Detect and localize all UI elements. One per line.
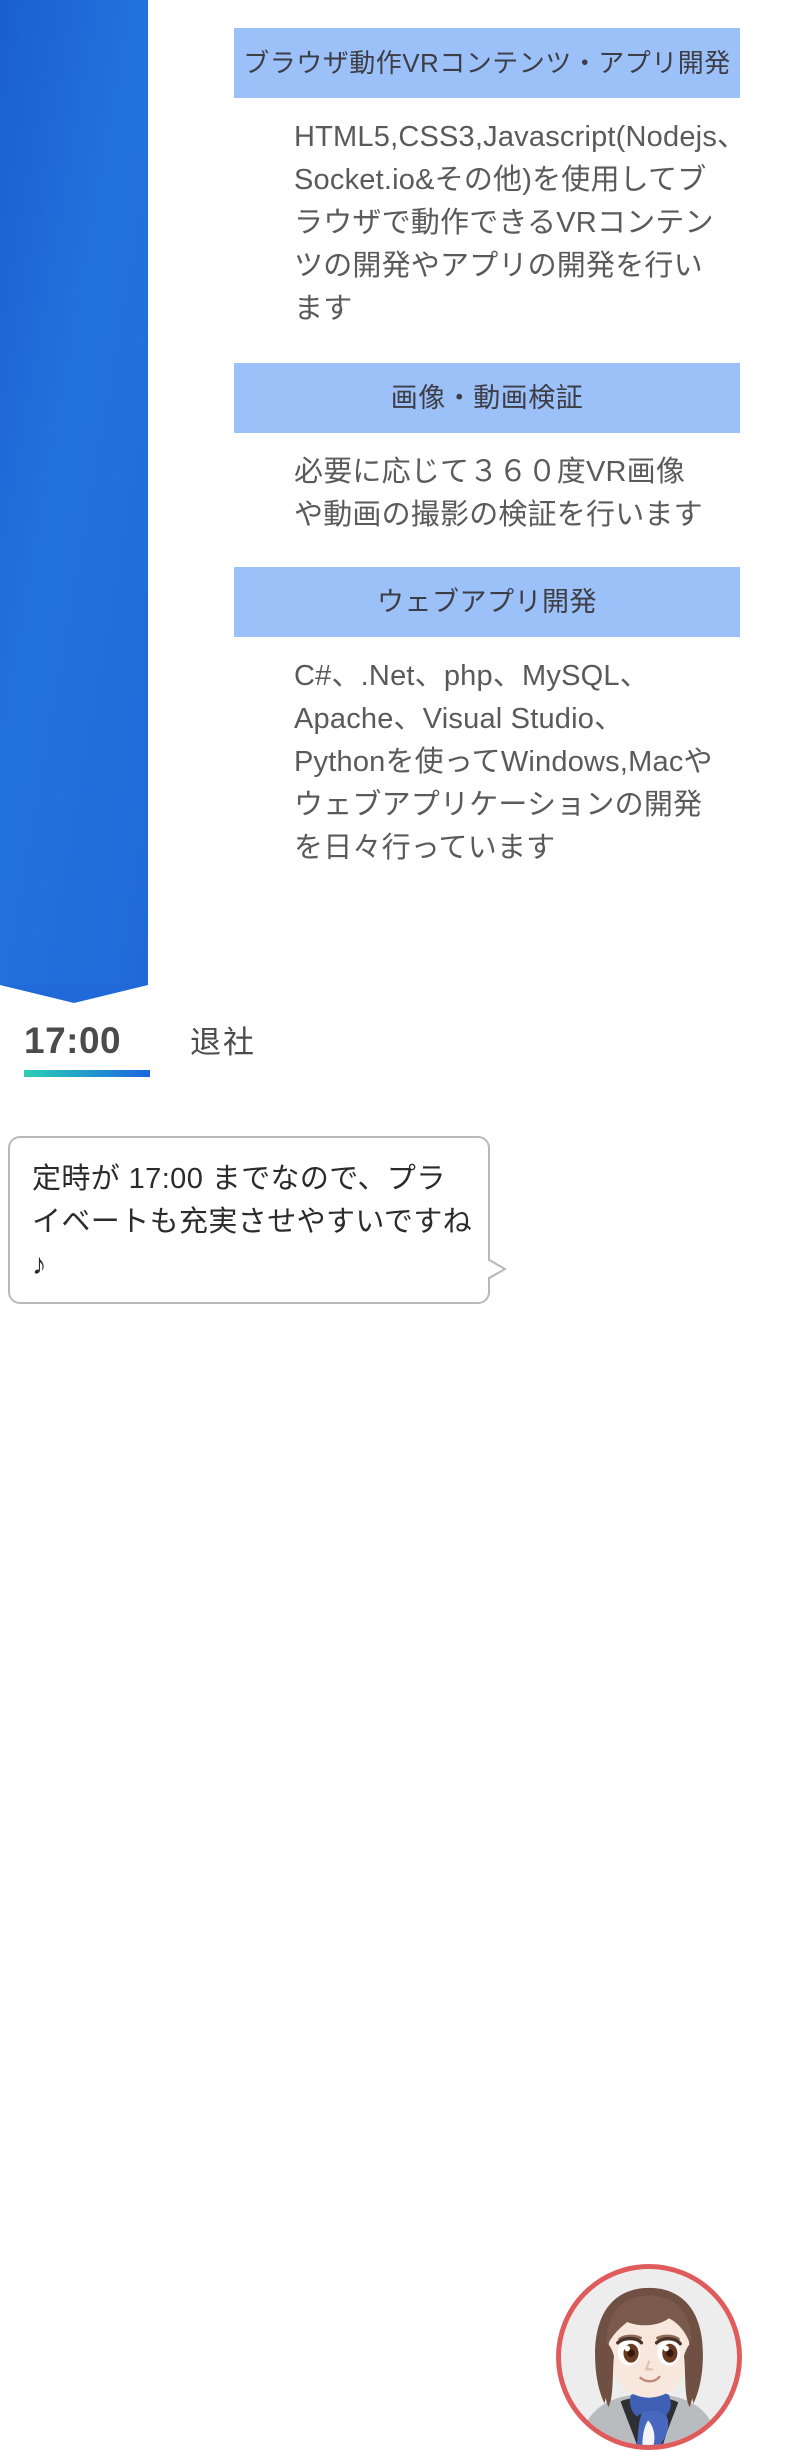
speech-bubble-text: 定時が 17:00 までなので、プライベートも充実させやすいですね♪ — [10, 1138, 488, 1287]
section-header-web-app-development: ウェブアプリ開発 — [234, 567, 740, 637]
timeline-rail-body — [0, 0, 148, 985]
avatar — [556, 2264, 742, 2450]
timeline-rail — [0, 0, 148, 1000]
speech-bubble: 定時が 17:00 までなので、プライベートも充実させやすいですね♪ — [8, 1136, 490, 1304]
content-column: ブラウザ動作VRコンテンツ・アプリ開発 HTML5,CSS3,Javascrip… — [234, 0, 740, 870]
section-web-app-development: ウェブアプリ開発 C#、.Net、php、MySQL、Apache、Visual… — [234, 567, 740, 870]
chevron-down-arrow-icon — [0, 985, 148, 1003]
section-header-image-video-verification: 画像・動画検証 — [234, 363, 740, 433]
speech-bubble-tail-inner — [487, 1260, 503, 1278]
timeline-event-label: 退社 — [190, 1022, 256, 1064]
section-header-browser-vr: ブラウザ動作VRコンテンツ・アプリ開発 — [234, 28, 740, 98]
time-block: 17:00 — [24, 1018, 150, 1077]
time-underline — [24, 1070, 150, 1077]
section-body-web-app-development: C#、.Net、php、MySQL、Apache、Visual Studio、P… — [234, 637, 714, 870]
timeline-time-marker: 17:00 退社 — [0, 1018, 800, 1088]
section-body-browser-vr: HTML5,CSS3,Javascript(Nodejs、Socket.io&そ… — [234, 98, 714, 331]
speech-row: 定時が 17:00 までなので、プライベートも充実させやすいですね♪ — [0, 1130, 800, 1323]
section-image-video-verification: 画像・動画検証 必要に応じて３６０度VR画像や動画の撮影の検証を行います — [234, 363, 740, 537]
section-browser-vr: ブラウザ動作VRコンテンツ・アプリ開発 HTML5,CSS3,Javascrip… — [234, 28, 740, 331]
time-value: 17:00 — [24, 1018, 150, 1064]
section-body-image-video-verification: 必要に応じて３６０度VR画像や動画の撮影の検証を行います — [234, 433, 714, 537]
